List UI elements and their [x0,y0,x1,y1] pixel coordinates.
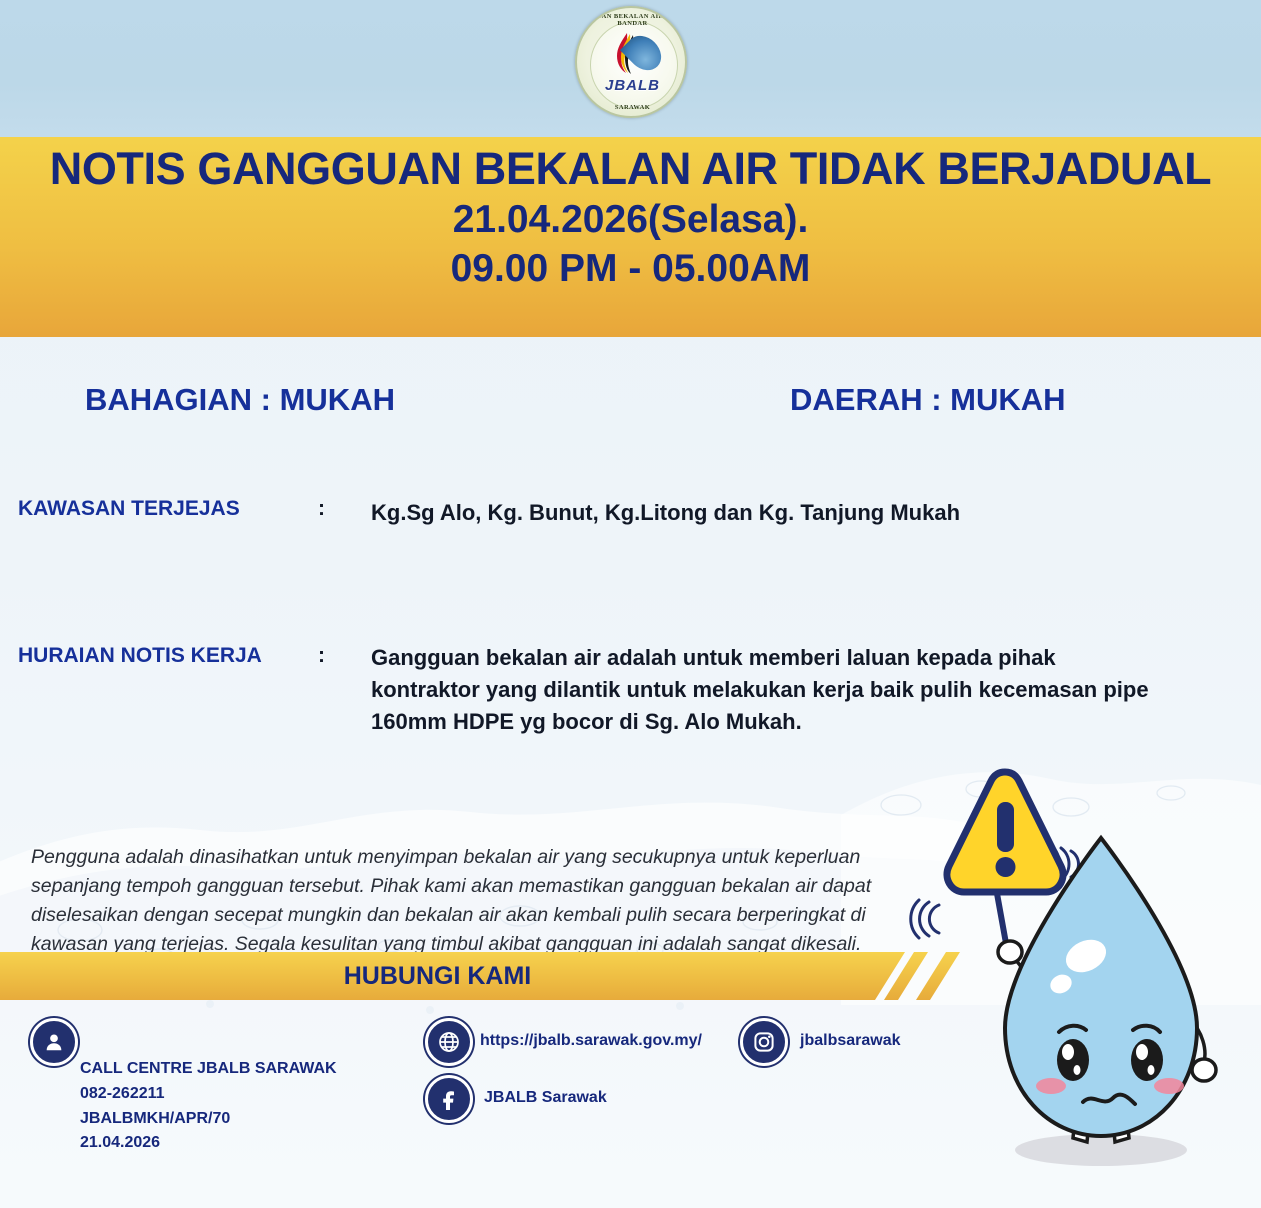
jbalb-logo: JABATAN BEKALAN AIR LUAR BANDAR JBALB SA… [575,6,687,118]
mascot-shadow [1015,1134,1187,1166]
mascot-right-hand [1192,1059,1216,1081]
call-centre-block: CALL CENTRE JBALB SARAWAK 082-262211 JBA… [80,1057,337,1156]
instagram-handle[interactable]: jbalbsarawak [800,1029,901,1054]
title-band: NOTIS GANGGUAN BEKALAN AIR TIDAK BERJADU… [0,137,1261,337]
mascot-legs [1073,1108,1129,1142]
person-glyph [43,1031,65,1053]
field-kawasan-terjejas: KAWASAN TERJEJAS : Kg.Sg Alo, Kg. Bunut,… [18,497,1198,529]
website-url[interactable]: https://jbalb.sarawak.gov.my/ [480,1029,702,1054]
kawasan-value: Kg.Sg Alo, Kg. Bunut, Kg.Litong dan Kg. … [371,497,960,529]
mascot-mouth [1083,1095,1135,1104]
facebook-handle[interactable]: JBALB Sarawak [484,1086,607,1111]
facebook-glyph [437,1087,461,1111]
advisory-paragraph: Pengguna adalah dinasihatkan untuk menyi… [31,843,901,958]
globe-glyph [437,1030,461,1054]
logo-arc-bottom-text: SARAWAK [577,104,687,111]
mascot-blush-left [1036,1078,1066,1094]
logo-arc-top-text: JABATAN BEKALAN AIR LUAR BANDAR [577,13,687,27]
mascot-eyebrows [1059,1026,1160,1032]
mascot-highlight-large [1061,934,1112,979]
logo-wordmark: JBALB [577,77,687,94]
kawasan-colon: : [318,497,371,521]
bahagian-label: BAHAGIAN : MUKAH [85,382,395,418]
region-row: BAHAGIAN : MUKAH DAERAH : MUKAH [0,382,1261,428]
contact-banner-label: HUBUNGI KAMI [0,952,875,1000]
huraian-colon: : [318,642,371,668]
water-splash-watermark-right [841,745,1261,1005]
instagram-icon[interactable] [740,1018,788,1066]
sign-pole [996,888,1009,960]
call-centre-title: CALL CENTRE JBALB SARAWAK [80,1057,337,1082]
mascot-blush-right [1154,1078,1184,1094]
person-icon [30,1018,78,1066]
notice-issue-date: 21.04.2026 [80,1131,337,1156]
notice-reference: JBALBMKH/APR/70 [80,1107,337,1132]
globe-icon[interactable] [425,1018,473,1066]
logo-ring: JABATAN BEKALAN AIR LUAR BANDAR JBALB SA… [575,6,687,118]
mascot-highlight-small [1047,971,1075,997]
page-title: NOTIS GANGGUAN BEKALAN AIR TIDAK BERJADU… [0,145,1261,194]
water-droplet-mascot [901,760,1261,1180]
call-centre-phone[interactable]: 082-262211 [80,1082,337,1107]
huraian-label: HURAIAN NOTIS KERJA [18,642,318,668]
mascot-left-hand [998,941,1022,963]
facebook-icon[interactable] [425,1075,473,1123]
mascot-eyes [1057,1039,1163,1081]
notice-poster: JABATAN BEKALAN AIR LUAR BANDAR JBALB SA… [0,0,1261,1208]
warning-triangle-icon [947,772,1063,892]
title-time: 09.00 PM - 05.00AM [0,246,1261,293]
huraian-value: Gangguan bekalan air adalah untuk member… [371,642,1161,738]
mascot-body [1005,838,1197,1136]
mascot-left-arm [1013,958,1024,990]
motion-lines-right [1051,845,1079,883]
motion-lines-left [911,900,939,938]
instagram-glyph [752,1030,776,1054]
header-logo-band: JABATAN BEKALAN AIR LUAR BANDAR JBALB SA… [0,0,1261,137]
daerah-label: DAERAH : MUKAH [790,382,1066,418]
kawasan-label: KAWASAN TERJEJAS [18,497,318,521]
title-date: 21.04.2026(Selasa). [0,194,1261,247]
field-huraian-notis-kerja: HURAIAN NOTIS KERJA : Gangguan bekalan a… [18,642,1198,738]
mascot-right-arm [1189,1018,1205,1062]
